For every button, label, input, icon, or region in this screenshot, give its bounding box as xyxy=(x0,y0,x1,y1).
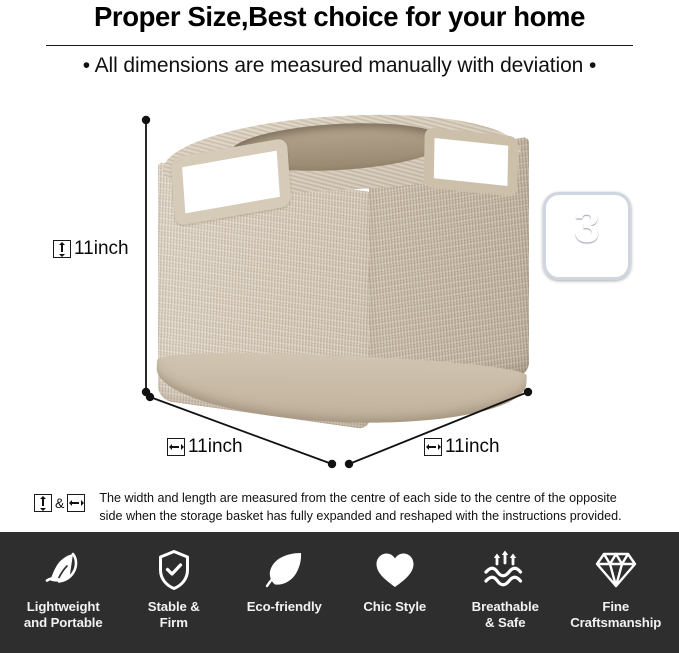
feature-label: Breathable & Safe xyxy=(472,599,539,631)
measurement-footnote: & The width and length are measured from… xyxy=(0,490,679,532)
basket-handle-right xyxy=(424,127,519,197)
storage-basket-image xyxy=(158,110,528,420)
pack-count-number: 3 xyxy=(574,205,600,247)
page-title: Proper Size,Best choice for your home xyxy=(0,1,679,33)
horizontal-double-arrow-icon xyxy=(67,494,85,512)
feature-stable-firm: Stable & Firm xyxy=(119,548,230,631)
title-divider xyxy=(46,45,633,46)
page-subtitle: • All dimensions are measured manually w… xyxy=(0,54,679,78)
feature-label: Chic Style xyxy=(363,599,426,615)
dimension-label-depth: 11inch xyxy=(423,436,501,458)
basket-rim xyxy=(156,110,530,206)
diamond-icon xyxy=(595,548,637,592)
heart-icon xyxy=(374,548,416,592)
feature-label: Stable & Firm xyxy=(148,599,200,631)
leaf-icon xyxy=(262,548,306,592)
dimension-width-value: 11inch xyxy=(188,436,243,458)
feature-eco-friendly: Eco-friendly xyxy=(229,548,340,615)
feature-chic-style: Chic Style xyxy=(340,548,451,615)
shield-check-icon xyxy=(156,548,192,592)
horizontal-double-arrow-icon xyxy=(167,438,185,456)
pack-count-word: PACK xyxy=(562,248,612,265)
feather-icon xyxy=(42,548,84,592)
feature-breathable-safe: Breathable & Safe xyxy=(450,548,561,631)
horizontal-double-arrow-icon xyxy=(424,438,442,456)
product-stage: 11inch 11inch 11inch xyxy=(0,92,679,490)
feature-fine-craftsmanship: Fine Craftsmanship xyxy=(561,548,672,631)
feature-label: Fine Craftsmanship xyxy=(570,599,661,631)
feature-label: Eco-friendly xyxy=(247,599,322,615)
dimension-label-width: 11inch xyxy=(166,436,244,458)
dimension-height-value: 11inch xyxy=(74,238,129,260)
footnote-ampersand: & xyxy=(55,495,64,511)
footnote-line-1: The width and length are measured from t… xyxy=(99,490,621,508)
vertical-double-arrow-icon xyxy=(34,494,52,512)
footnote-icons: & xyxy=(34,494,85,512)
feature-bar: Lightweight and Portable Stable & Firm E… xyxy=(0,532,679,653)
header: Proper Size,Best choice for your home • … xyxy=(0,0,679,92)
footnote-text: The width and length are measured from t… xyxy=(99,490,621,526)
breathable-icon xyxy=(482,548,528,592)
feature-lightweight: Lightweight and Portable xyxy=(8,548,119,631)
pack-count-badge: 3 PACK xyxy=(543,192,631,280)
vertical-double-arrow-icon xyxy=(53,240,71,258)
dimension-label-height: 11inch xyxy=(52,238,130,260)
footnote-line-2: side when the storage basket has fully e… xyxy=(99,508,621,526)
dimension-depth-value: 11inch xyxy=(445,436,500,458)
feature-label: Lightweight and Portable xyxy=(24,599,103,631)
